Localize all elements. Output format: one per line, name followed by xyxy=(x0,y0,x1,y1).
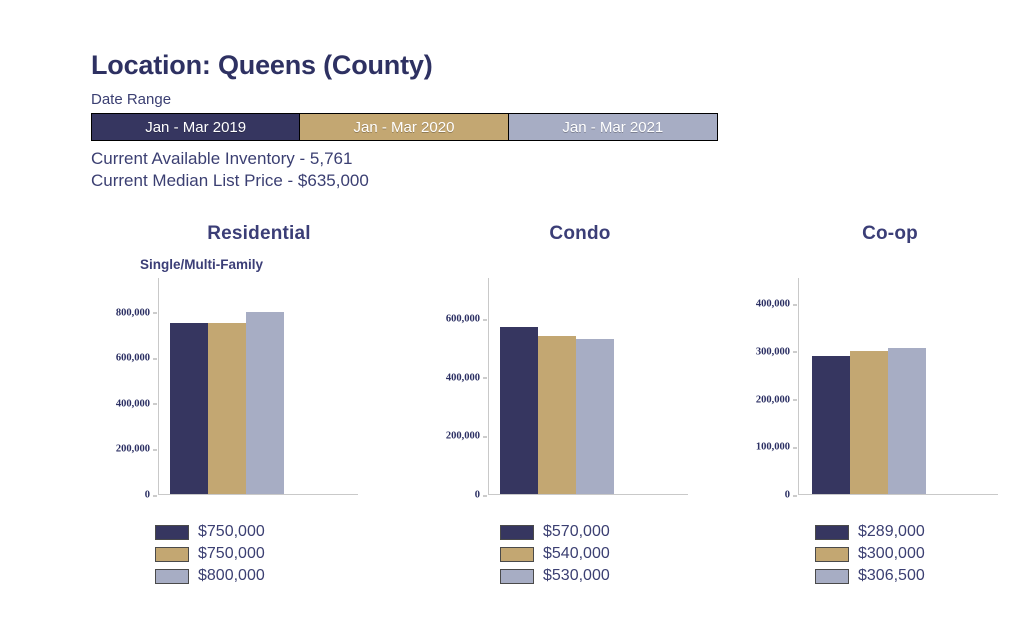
legend-swatch-2021 xyxy=(155,569,189,584)
y-tick-label: 200,000 xyxy=(116,444,150,455)
x-axis-line-residential xyxy=(158,494,358,495)
legend-swatch-2021 xyxy=(815,569,849,584)
y-tick-label: 400,000 xyxy=(756,299,790,310)
y-tick-label: 200,000 xyxy=(446,431,480,442)
bars-residential xyxy=(170,289,284,494)
chart-panel-residential: Residential Single/Multi-Family 0200,000… xyxy=(90,222,420,587)
page-title: Location: Queens (County) xyxy=(91,48,791,82)
bar-janmar2020 xyxy=(208,323,246,494)
y-tick-label: 400,000 xyxy=(116,398,150,409)
plot-area-coop: 0100,000200,000300,000400,000 xyxy=(730,290,1020,495)
legend-residential: $750,000 $750,000 $800,000 xyxy=(90,521,420,587)
chart-panel-coop: Co-op 0100,000200,000300,000400,000 $289… xyxy=(730,222,1020,587)
legend-label-2020: $540,000 xyxy=(543,544,610,564)
y-axis-residential: 0200,000400,000600,000800,000 xyxy=(90,290,158,495)
y-axis-coop: 0100,000200,000300,000400,000 xyxy=(730,290,798,495)
legend-coop: $289,000 $300,000 $306,500 xyxy=(730,521,1020,587)
bars-coop xyxy=(812,289,926,494)
plot-area-condo: 0200,000400,000600,000 xyxy=(420,290,720,495)
bar-janmar2019 xyxy=(812,356,850,494)
charts-row: Residential Single/Multi-Family 0200,000… xyxy=(0,222,1024,587)
y-tick-label: 200,000 xyxy=(756,394,790,405)
legend-swatch-2020 xyxy=(815,547,849,562)
y-tick-label: 0 xyxy=(785,490,790,501)
y-axis-line-coop xyxy=(798,278,799,495)
y-tick-label: 600,000 xyxy=(446,314,480,325)
legend-item: $289,000 xyxy=(815,521,1020,543)
stat-available-inventory: Current Available Inventory - 5,761 xyxy=(91,148,791,170)
header-block: Location: Queens (County) Date Range Jan… xyxy=(91,48,791,192)
legend-item: $750,000 xyxy=(155,543,420,565)
y-tick-label: 0 xyxy=(145,490,150,501)
legend-item: $306,500 xyxy=(815,565,1020,587)
stat-median-list-price: Current Median List Price - $635,000 xyxy=(91,170,791,192)
chart-title-residential: Residential xyxy=(90,222,420,246)
bar-janmar2020 xyxy=(538,336,576,494)
legend-item: $570,000 xyxy=(500,521,720,543)
legend-label-2021: $306,500 xyxy=(858,566,925,586)
y-axis-condo: 0200,000400,000600,000 xyxy=(420,290,488,495)
legend-swatch-2020 xyxy=(155,547,189,562)
date-segment-2019[interactable]: Jan - Mar 2019 xyxy=(92,114,300,140)
legend-label-2021: $800,000 xyxy=(198,566,265,586)
legend-swatch-2021 xyxy=(500,569,534,584)
legend-label-2021: $530,000 xyxy=(543,566,610,586)
legend-item: $540,000 xyxy=(500,543,720,565)
legend-label-2019: $570,000 xyxy=(543,522,610,542)
date-range-label: Date Range xyxy=(91,91,791,109)
bar-janmar2019 xyxy=(170,323,208,494)
y-tick-label: 800,000 xyxy=(116,307,150,318)
legend-item: $530,000 xyxy=(500,565,720,587)
date-segment-2021[interactable]: Jan - Mar 2021 xyxy=(509,114,717,140)
legend-label-2019: $289,000 xyxy=(858,522,925,542)
legend-item: $750,000 xyxy=(155,521,420,543)
chart-title-condo: Condo xyxy=(420,222,720,246)
bar-janmar2021 xyxy=(576,339,614,494)
date-segment-2020[interactable]: Jan - Mar 2020 xyxy=(300,114,508,140)
y-tick-label: 100,000 xyxy=(756,442,790,453)
y-axis-line-condo xyxy=(488,278,489,495)
summary-stats: Current Available Inventory - 5,761 Curr… xyxy=(91,148,791,192)
legend-swatch-2019 xyxy=(500,525,534,540)
chart-subtitle-residential: Single/Multi-Family xyxy=(90,256,420,274)
bar-janmar2021 xyxy=(888,348,926,494)
bar-janmar2019 xyxy=(500,327,538,494)
plot-area-residential: 0200,000400,000600,000800,000 xyxy=(90,290,420,495)
legend-label-2019: $750,000 xyxy=(198,522,265,542)
bars-condo xyxy=(500,289,614,494)
x-axis-line-condo xyxy=(488,494,688,495)
legend-label-2020: $300,000 xyxy=(858,544,925,564)
bar-janmar2021 xyxy=(246,312,284,494)
chart-title-coop: Co-op xyxy=(730,222,1020,246)
legend-condo: $570,000 $540,000 $530,000 xyxy=(420,521,720,587)
x-axis-line-coop xyxy=(798,494,998,495)
bar-janmar2020 xyxy=(850,351,888,494)
legend-item: $300,000 xyxy=(815,543,1020,565)
y-tick-label: 600,000 xyxy=(116,353,150,364)
y-tick-label: 400,000 xyxy=(446,372,480,383)
y-axis-line-residential xyxy=(158,278,159,495)
legend-swatch-2019 xyxy=(815,525,849,540)
date-range-selector[interactable]: Jan - Mar 2019 Jan - Mar 2020 Jan - Mar … xyxy=(91,113,718,141)
y-tick-label: 300,000 xyxy=(756,346,790,357)
legend-label-2020: $750,000 xyxy=(198,544,265,564)
legend-swatch-2019 xyxy=(155,525,189,540)
legend-swatch-2020 xyxy=(500,547,534,562)
legend-item: $800,000 xyxy=(155,565,420,587)
chart-panel-condo: Condo 0200,000400,000600,000 $570,000 $5… xyxy=(420,222,720,587)
y-tick-label: 0 xyxy=(475,490,480,501)
